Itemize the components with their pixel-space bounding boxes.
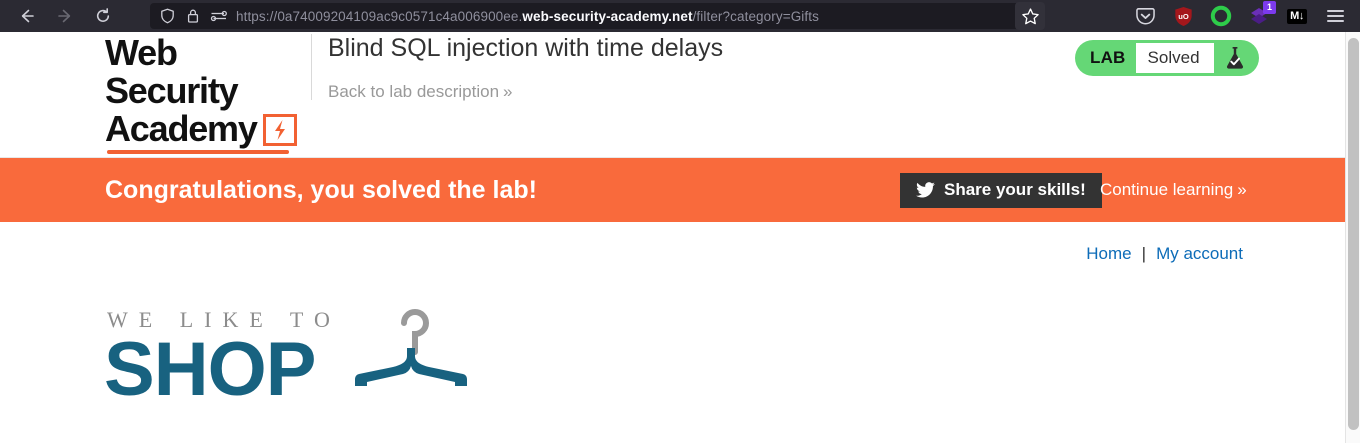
twitter-bird-icon (916, 182, 935, 198)
share-your-skills-button[interactable]: Share your skills! (900, 173, 1102, 208)
arrow-right-icon (56, 7, 74, 25)
reload-button[interactable] (88, 3, 118, 29)
reload-icon (94, 7, 112, 25)
padlock-icon[interactable] (184, 7, 202, 25)
logo-underline (107, 150, 289, 154)
academy-header: Web Security Academy Blind SQL injection… (0, 32, 1345, 158)
browser-toolbar: https://0a74009204109ac9c0571c4a006900ee… (0, 0, 1360, 32)
continue-learning-link[interactable]: Continue learning» (1100, 180, 1245, 200)
address-bar[interactable]: https://0a74009204109ac9c0571c4a006900ee… (150, 3, 1030, 29)
browser-nav-buttons (0, 3, 118, 29)
hamburger-lines (1327, 10, 1344, 22)
shop-wordmark: SHOP (104, 333, 341, 407)
continue-learning-label: Continue learning (1100, 180, 1233, 199)
lightning-bolt-icon (263, 114, 297, 146)
shop-top-nav: Home | My account (1086, 244, 1243, 264)
scrollbar-thumb[interactable] (1348, 38, 1359, 430)
url-host: web-security-academy.net (522, 9, 692, 24)
back-link-chevron: » (503, 82, 510, 101)
markdown-download-icon[interactable]: M↓ (1286, 4, 1308, 28)
svg-text:uO: uO (1178, 11, 1189, 20)
nav-separator: | (1142, 244, 1146, 264)
shop-logo[interactable]: WE LIKE TO SHOP (104, 304, 475, 407)
pocket-icon[interactable] (1134, 4, 1156, 28)
hamburger-menu-icon[interactable] (1324, 4, 1346, 28)
extension-toolbar: uO 1 M↓ (1134, 0, 1352, 32)
flask-check-icon (1214, 43, 1256, 73)
lab-status-badge: Solved (1136, 43, 1214, 73)
lab-tag: LAB (1078, 43, 1136, 73)
my-account-link[interactable]: My account (1156, 244, 1243, 264)
page-title: Blind SQL injection with time delays (328, 34, 723, 63)
lab-status-widget: LAB Solved (1075, 40, 1259, 76)
logo-line-1: Web Security (105, 34, 305, 110)
forward-button[interactable] (50, 3, 80, 29)
bookmark-button[interactable] (1015, 2, 1045, 30)
page-content: Web Security Academy Blind SQL injection… (0, 32, 1345, 443)
star-icon (1021, 7, 1040, 26)
purple-download-icon[interactable]: 1 (1248, 4, 1270, 28)
url-suffix: /filter?category=Gifts (693, 9, 819, 24)
home-link[interactable]: Home (1086, 244, 1131, 264)
url-prefix: https://0a74009204109ac9c0571c4a006900ee… (236, 9, 522, 24)
shop-wordmark-block: WE LIKE TO SHOP (104, 307, 341, 407)
web-security-academy-logo[interactable]: Web Security Academy (105, 34, 305, 154)
back-button[interactable] (12, 3, 42, 29)
clothes-hanger-icon (355, 304, 475, 401)
back-to-lab-description-link[interactable]: Back to lab description» (328, 82, 511, 102)
shield-icon[interactable] (158, 7, 176, 25)
shop-content: Home | My account WE LIKE TO SHOP (0, 222, 1345, 442)
continue-learning-chevron: » (1237, 180, 1244, 199)
url-text: https://0a74009204109ac9c0571c4a006900ee… (236, 9, 819, 24)
ublock-origin-icon[interactable]: uO (1172, 4, 1194, 28)
congratulations-message: Congratulations, you solved the lab! (105, 176, 537, 205)
markdown-label: M↓ (1287, 9, 1307, 24)
back-link-label: Back to lab description (328, 82, 499, 101)
green-circle-icon[interactable] (1210, 4, 1232, 28)
header-divider (311, 34, 312, 100)
congratulations-banner: Congratulations, you solved the lab! Sha… (0, 158, 1345, 222)
logo-row-2: Academy (105, 110, 305, 148)
page-scrollbar[interactable] (1345, 32, 1360, 443)
arrow-left-icon (18, 7, 36, 25)
share-button-label: Share your skills! (944, 180, 1086, 200)
logo-line-2: Academy (105, 110, 257, 148)
page-permissions-icon[interactable] (210, 7, 228, 25)
download-badge: 1 (1263, 1, 1276, 14)
